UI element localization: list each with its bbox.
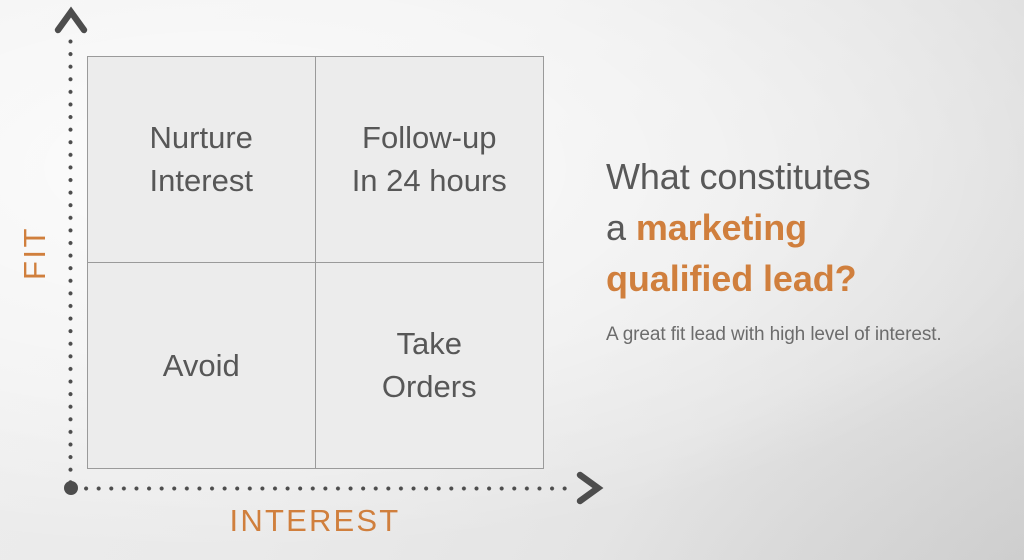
slide-canvas: FIT INTEREST Nurture Interest Follow-up … xyxy=(0,0,1024,560)
origin-dot xyxy=(64,481,78,495)
quadrant-nurture-interest[interactable]: Nurture Interest xyxy=(88,57,316,263)
x-axis-label-interest: INTEREST xyxy=(150,505,480,536)
quadrant-avoid[interactable]: Avoid xyxy=(88,263,316,469)
quadrant-take-orders[interactable]: Take Orders xyxy=(316,263,544,469)
arrow-up-icon xyxy=(53,4,89,40)
panel-subcopy: A great fit lead with high level of inte… xyxy=(606,323,986,348)
panel-headline: What constitutes a marketing qualified l… xyxy=(606,152,986,304)
quadrant-matrix: Nurture Interest Follow-up In 24 hours A… xyxy=(87,56,544,469)
copy-panel: What constitutes a marketing qualified l… xyxy=(606,152,986,348)
headline-line-2-plain: a xyxy=(606,207,636,248)
headline-line-2-accent: marketing xyxy=(636,207,807,248)
x-axis-dotted-line xyxy=(70,485,570,492)
arrow-right-icon xyxy=(570,470,606,506)
quadrant-follow-up-24-hours[interactable]: Follow-up In 24 hours xyxy=(316,57,544,263)
y-axis-dotted-line xyxy=(67,38,74,490)
headline-line-1: What constitutes xyxy=(606,152,986,203)
y-axis-label-fit: FIT xyxy=(19,198,50,308)
headline-line-2: a marketing xyxy=(606,203,986,254)
headline-line-3-accent: qualified lead? xyxy=(606,254,986,305)
